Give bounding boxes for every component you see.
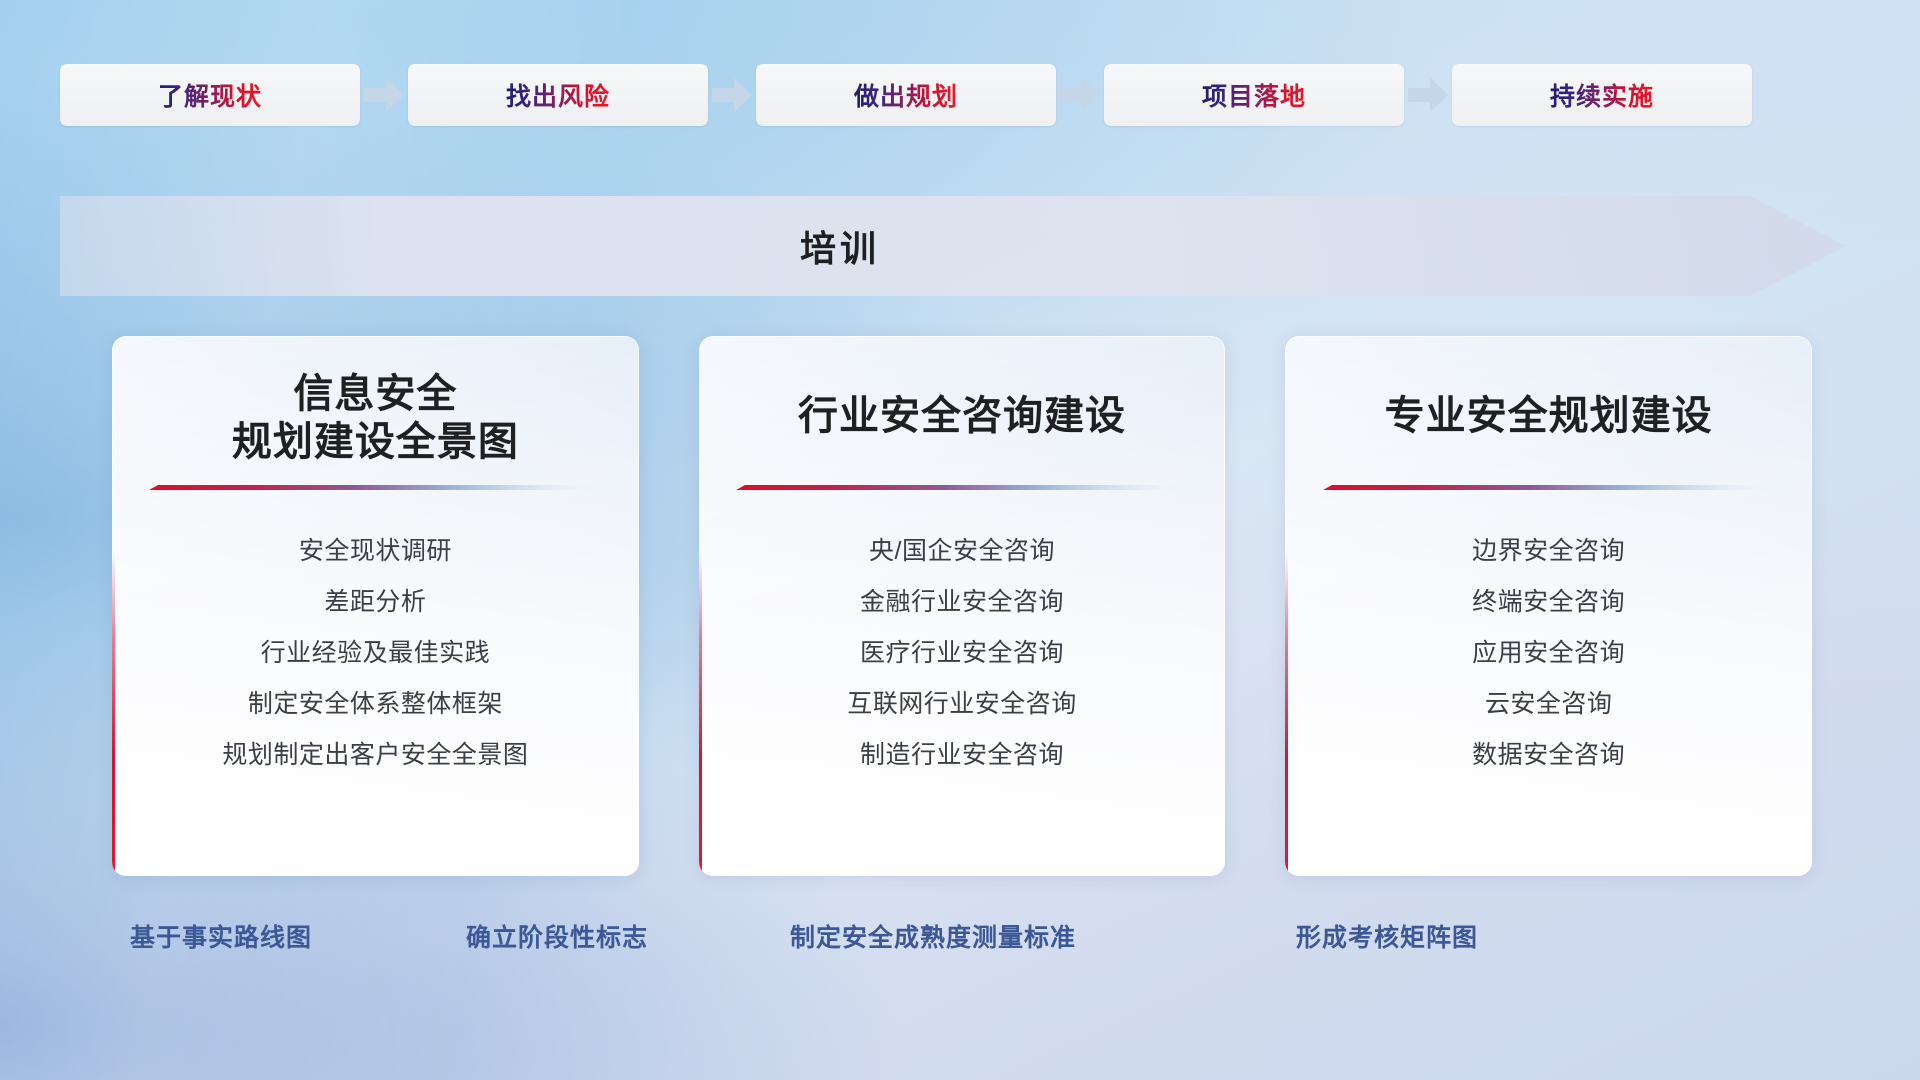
card-accent-edge [699,336,702,876]
right-arrow-icon [1404,64,1452,126]
list-item: 央/国企安全咨询 [869,539,1055,564]
card-title-2: 行业安全咨询建设 [798,392,1126,440]
caption-row: 基于事实路线图 确立阶段性标志 制定安全成熟度测量标准 形成考核矩阵图 [0,918,1920,964]
card-divider-1 [149,484,601,497]
caption-1: 基于事实路线图 [130,918,312,954]
list-item: 规划制定出客户安全全景图 [222,743,528,768]
card-title-3: 专业安全规划建设 [1385,392,1713,440]
card-body-3: 边界安全咨询 终端安全咨询 应用安全咨询 云安全咨询 数据安全咨询 [1285,497,1812,876]
card-title-1: 信息安全 规划建设全景图 [232,370,519,466]
card-2[interactable]: 行业安全咨询建设 [699,336,1226,876]
right-arrow-icon [360,64,408,126]
list-item: 安全现状调研 [299,539,452,564]
list-item: 差距分析 [324,590,426,615]
card-list-3: 边界安全咨询 终端安全咨询 应用安全咨询 云安全咨询 数据安全咨询 [1285,539,1812,804]
step-box-4[interactable]: 项目落地 [1104,64,1404,126]
step-label-3: 做出规划 [854,77,958,113]
list-item: 云安全咨询 [1485,692,1613,717]
step-box-5[interactable]: 持续实施 [1452,64,1752,126]
card-body-1: 安全现状调研 差距分析 行业经验及最佳实践 制定安全体系整体框架 规划制定出客户… [112,497,639,876]
step-box-2[interactable]: 找出风险 [408,64,708,126]
card-list-2: 央/国企安全咨询 金融行业安全咨询 医疗行业安全咨询 互联网行业安全咨询 制造行… [699,539,1226,804]
list-item: 制定安全体系整体框架 [248,692,503,717]
card-group: 信息安全 规划建设全景图 [112,336,1812,876]
card-list-1: 安全现状调研 差距分析 行业经验及最佳实践 制定安全体系整体框架 规划制定出客户… [112,539,639,804]
list-item: 应用安全咨询 [1472,641,1625,666]
card-accent-edge [1285,336,1288,876]
right-arrow-icon [1056,64,1104,126]
list-item: 互联网行业安全咨询 [847,692,1077,717]
step-box-1[interactable]: 了解现状 [60,64,360,126]
list-item: 行业经验及最佳实践 [261,641,491,666]
step-label-1: 了解现状 [158,77,262,113]
card-3[interactable]: 专业安全规划建设 [1285,336,1812,876]
card-divider-3 [1323,484,1775,497]
caption-4: 形成考核矩阵图 [1296,918,1478,954]
right-arrow-icon [708,64,756,126]
list-item: 医疗行业安全咨询 [860,641,1064,666]
divider-wrap [1285,484,1812,497]
process-step-flow: 了解现状 找出风险 做出规划 项目落地 持续实施 [60,64,1860,126]
step-label-5: 持续实施 [1550,77,1654,113]
list-item: 终端安全咨询 [1472,590,1625,615]
caption-3: 制定安全成熟度测量标准 [790,918,1076,954]
list-item: 金融行业安全咨询 [860,590,1064,615]
card-accent-edge [112,336,115,876]
list-item: 边界安全咨询 [1472,539,1625,564]
list-item: 数据安全咨询 [1472,743,1625,768]
step-label-2: 找出风险 [506,77,610,113]
divider-wrap [112,484,639,497]
divider-wrap [699,484,1226,497]
card-body-2: 央/国企安全咨询 金融行业安全咨询 医疗行业安全咨询 互联网行业安全咨询 制造行… [699,497,1226,876]
step-box-3[interactable]: 做出规划 [756,64,1056,126]
training-banner: 培训 [60,196,1846,296]
caption-2: 确立阶段性标志 [466,918,648,954]
banner-title: 培训 [60,196,1620,296]
step-label-4: 项目落地 [1202,77,1306,113]
list-item: 制造行业安全咨询 [860,743,1064,768]
card-divider-2 [736,484,1188,497]
card-1[interactable]: 信息安全 规划建设全景图 [112,336,639,876]
